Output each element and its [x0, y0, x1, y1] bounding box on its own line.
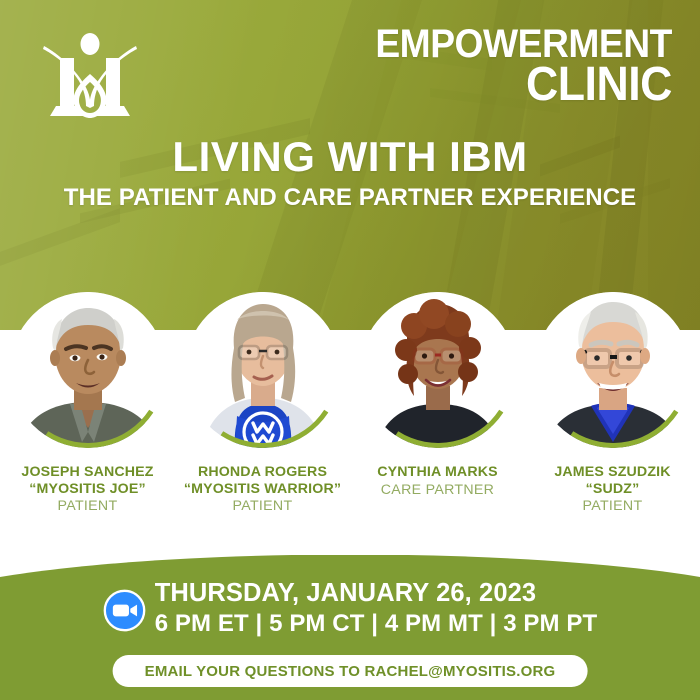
- speaker-role: PATIENT: [0, 498, 175, 515]
- speaker-nickname: “MYOSITIS JOE”: [0, 481, 175, 498]
- speaker-card: TMA COMMUNITY MEMBER: [175, 278, 350, 528]
- speaker-card: TMA COMMUNITY MEMBER: [525, 278, 700, 528]
- speaker-caption: CYNTHIA MARKS CARE PARTNER: [350, 464, 525, 498]
- speaker-role: PATIENT: [525, 498, 700, 515]
- speaker-role: CARE PARTNER: [350, 482, 525, 499]
- speaker-avatar: [535, 292, 691, 448]
- speaker-caption: RHONDA ROGERS “MYOSITIS WARRIOR” PATIENT: [175, 464, 350, 515]
- datetime-block: THURSDAY, JANUARY 26, 2023 6 PM ET | 5 P…: [0, 581, 700, 636]
- email-questions-label: EMAIL YOUR QUESTIONS TO RACHEL@MYOSITIS.…: [145, 663, 556, 680]
- speaker-avatar: [185, 292, 341, 448]
- avatar-arc-accent: [185, 292, 341, 448]
- datetime-text: THURSDAY, JANUARY 26, 2023 6 PM ET | 5 P…: [155, 581, 598, 636]
- event-date: THURSDAY, JANUARY 26, 2023: [155, 581, 598, 607]
- speaker-name: RHONDA ROGERS: [175, 464, 350, 481]
- event-title-block: LIVING WITH IBM THE PATIENT AND CARE PAR…: [0, 136, 700, 212]
- speaker-name: JOSEPH SANCHEZ: [0, 464, 175, 481]
- speaker-caption: JOSEPH SANCHEZ “MYOSITIS JOE” PATIENT: [0, 464, 175, 515]
- speaker-name: CYNTHIA MARKS: [350, 464, 525, 481]
- speaker-nickname: “SUDZ”: [525, 481, 700, 498]
- event-times: 6 PM ET | 5 PM CT | 4 PM MT | 3 PM PT: [155, 612, 598, 636]
- tma-logo-icon: [38, 28, 142, 120]
- speaker-nickname: “MYOSITIS WARRIOR”: [175, 481, 350, 498]
- speaker-name: JAMES SZUDZIK: [525, 464, 700, 481]
- speaker-avatar: [360, 292, 516, 448]
- speaker-avatar: [10, 292, 166, 448]
- email-questions-button[interactable]: EMAIL YOUR QUESTIONS TO RACHEL@MYOSITIS.…: [113, 655, 588, 687]
- speaker-caption: JAMES SZUDZIK “SUDZ” PATIENT: [525, 464, 700, 515]
- webinar-flyer: EMPOWERMENT CLINIC LIVING WITH IBM THE P…: [0, 0, 700, 700]
- speakers-row: TMA COMMUNITY MEMBER: [0, 278, 700, 528]
- page-subtitle: THE PATIENT AND CARE PARTNER EXPERIENCE: [7, 184, 693, 212]
- brand-line-2: CLINIC: [375, 63, 672, 107]
- speaker-card: TMA COMMUNITY MEMBER: [0, 278, 175, 528]
- footer-banner: THURSDAY, JANUARY 26, 2023 6 PM ET | 5 P…: [0, 555, 700, 700]
- avatar-arc-accent: [360, 292, 516, 448]
- zoom-video-camera-icon: [103, 589, 146, 632]
- brand-wordmark: EMPOWERMENT CLINIC: [353, 26, 672, 107]
- avatar-arc-accent: [10, 292, 166, 448]
- speaker-role: PATIENT: [175, 498, 350, 515]
- speaker-card: TMA COMMUNITY MEMBER: [350, 278, 525, 528]
- page-title: LIVING WITH IBM: [0, 136, 700, 179]
- footer-content: THURSDAY, JANUARY 26, 2023 6 PM ET | 5 P…: [0, 555, 700, 700]
- avatar-arc-accent: [535, 292, 691, 448]
